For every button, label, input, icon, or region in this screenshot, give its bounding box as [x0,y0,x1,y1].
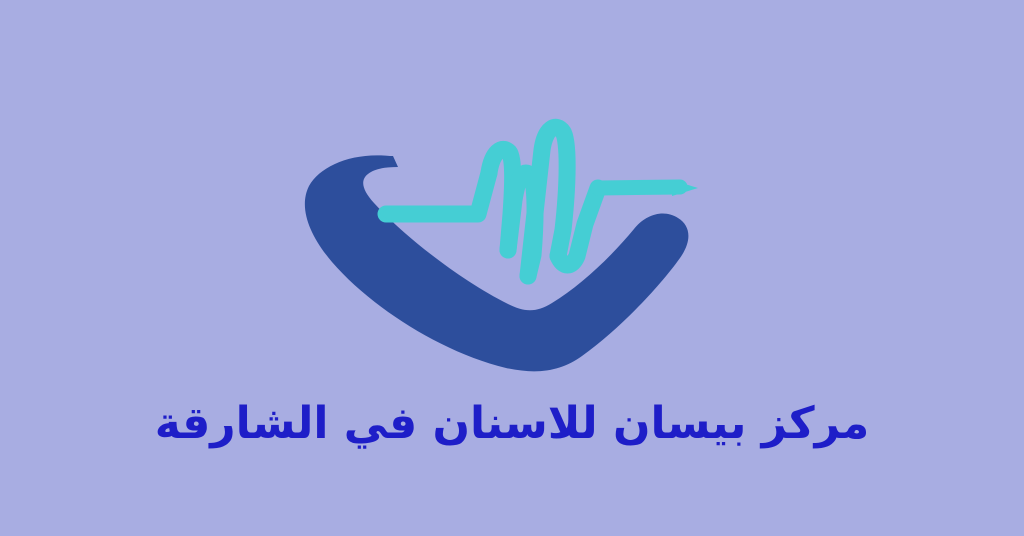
logo [280,90,700,380]
logo-card: مركز بيسان للاسنان في الشارقة [0,0,1024,536]
logo-caption: مركز بيسان للاسنان في الشارقة [0,392,1024,456]
logo-svg [280,90,700,380]
